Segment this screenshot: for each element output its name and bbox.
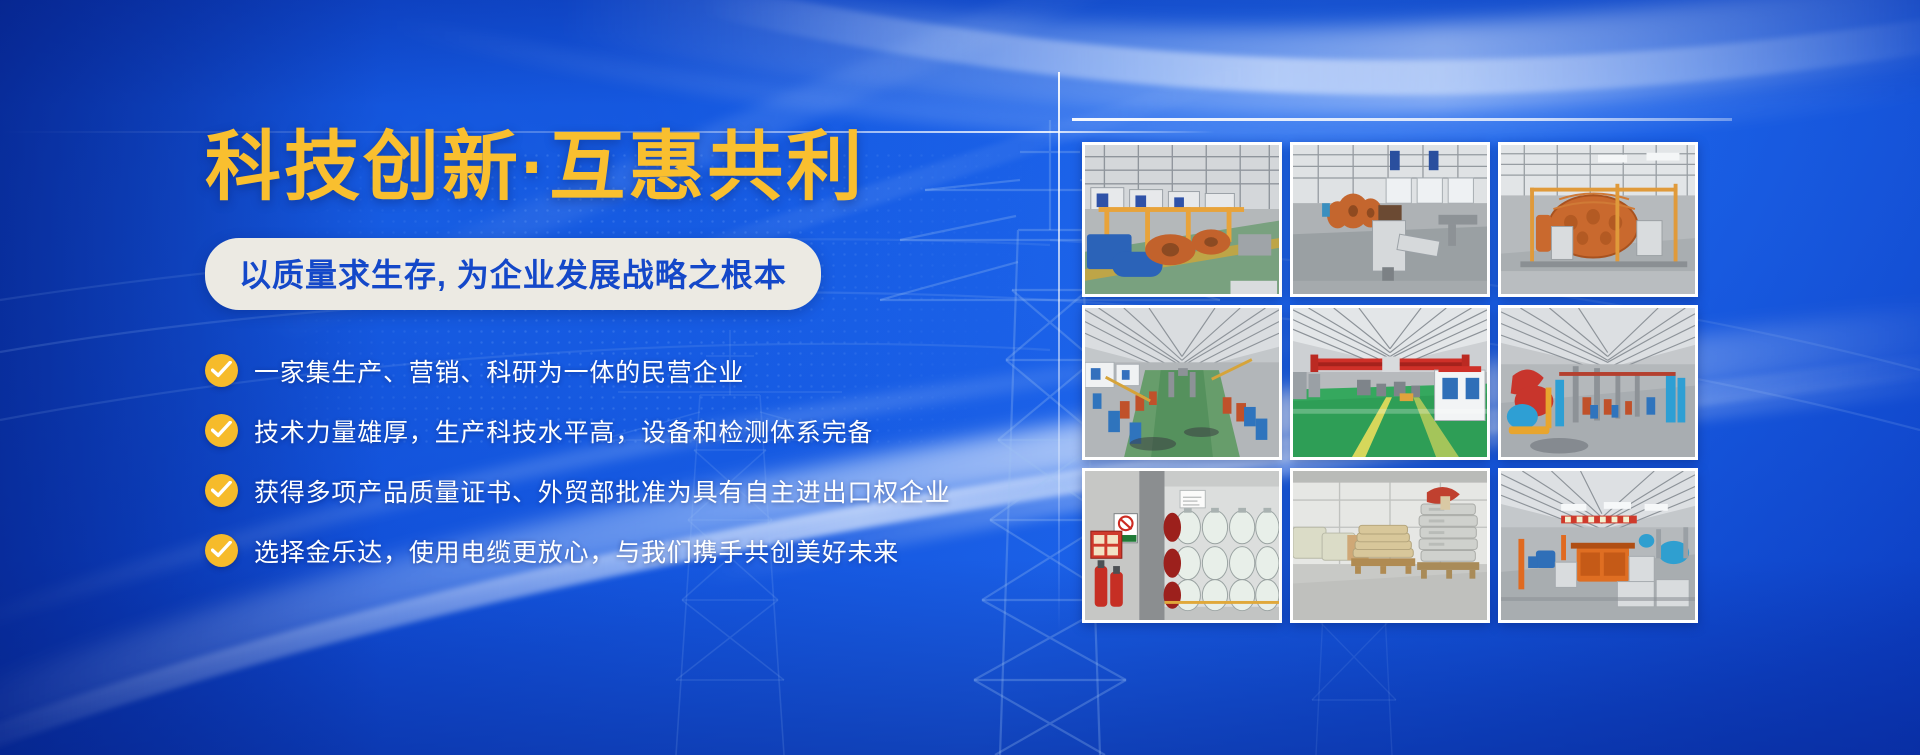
frame-vertical-line [1058, 72, 1060, 632]
list-item-label: 技术力量雄厚，生产科技水平高，设备和检测体系完备 [254, 413, 873, 449]
factory-photo[interactable] [1498, 142, 1698, 297]
frame-horizontal-line-upper [1072, 118, 1732, 121]
factory-photo[interactable] [1290, 142, 1490, 297]
banner-headline: 科技创新·互惠共利 [205, 128, 1025, 208]
factory-photo[interactable] [1082, 468, 1282, 623]
slogan-pill-text: 以质量求生存, 为企业发展战略之根本 [239, 250, 787, 296]
factory-photo[interactable] [1290, 468, 1490, 623]
slogan-pill: 以质量求生存, 为企业发展战略之根本 [205, 238, 821, 310]
check-circle-icon [205, 414, 238, 447]
list-item: 获得多项产品质量证书、外贸部批准为具有自主进出口权企业 [205, 474, 1025, 508]
list-item: 一家集生产、营销、科研为一体的民营企业 [205, 354, 1025, 388]
check-circle-icon [205, 534, 238, 567]
factory-photo[interactable] [1498, 468, 1698, 623]
list-item: 技术力量雄厚，生产科技水平高，设备和检测体系完备 [205, 414, 1025, 448]
list-item-label: 一家集生产、营销、科研为一体的民营企业 [254, 353, 744, 389]
feature-list: 一家集生产、营销、科研为一体的民营企业 技术力量雄厚，生产科技水平高，设备和检测… [205, 354, 1025, 568]
factory-photo[interactable] [1290, 305, 1490, 460]
check-circle-icon [205, 474, 238, 507]
check-circle-icon [205, 354, 238, 387]
list-item: 选择金乐达，使用电缆更放心，与我们携手共创美好未来 [205, 534, 1025, 568]
factory-photo[interactable] [1498, 305, 1698, 460]
promo-banner: 科技创新·互惠共利 以质量求生存, 为企业发展战略之根本 一家集生产、营销、科研… [0, 0, 1920, 755]
list-item-label: 获得多项产品质量证书、外贸部批准为具有自主进出口权企业 [254, 473, 951, 509]
banner-copy: 科技创新·互惠共利 以质量求生存, 为企业发展战略之根本 一家集生产、营销、科研… [205, 128, 1025, 594]
factory-photo-grid [1082, 142, 1712, 623]
factory-photo[interactable] [1082, 305, 1282, 460]
list-item-label: 选择金乐达，使用电缆更放心，与我们携手共创美好未来 [254, 533, 899, 569]
factory-photo[interactable] [1082, 142, 1282, 297]
